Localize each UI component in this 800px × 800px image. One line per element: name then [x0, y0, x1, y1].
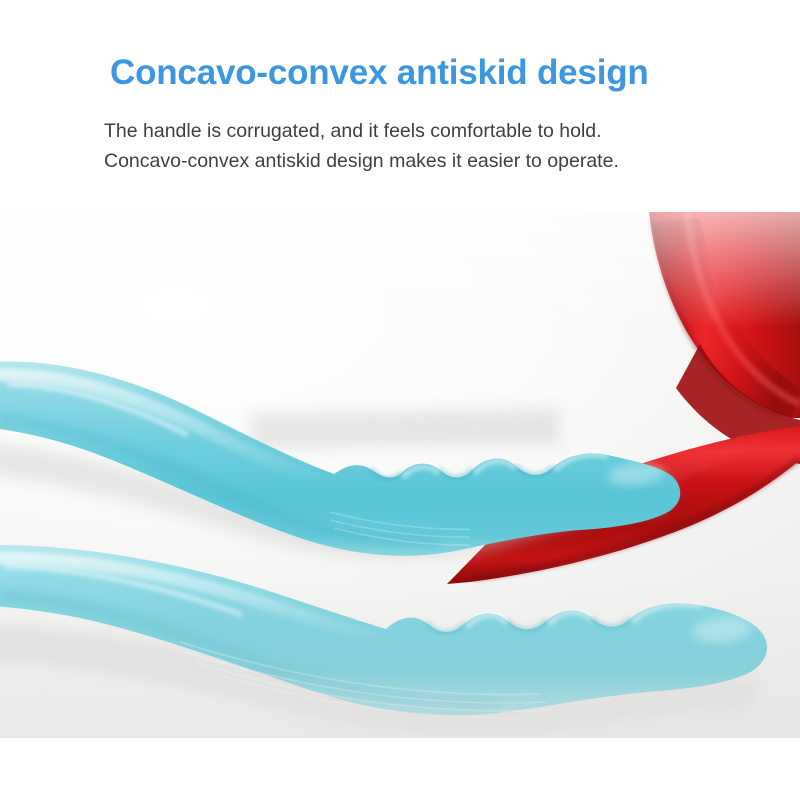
product-photo — [0, 212, 800, 738]
product-photo-illustration — [0, 212, 800, 738]
bottom-white-strip — [0, 738, 800, 800]
product-feature-image: Concavo-convex antiskid design The handl… — [0, 0, 800, 800]
upper-tong-handle — [0, 361, 680, 559]
description-line-2: Concavo-convex antiskid design makes it … — [104, 146, 754, 176]
description-line-1: The handle is corrugated, and it feels c… — [104, 116, 754, 146]
text-panel: Concavo-convex antiskid design The handl… — [0, 0, 800, 212]
description-text: The handle is corrugated, and it feels c… — [104, 116, 754, 176]
page-title: Concavo-convex antiskid design — [110, 53, 649, 93]
lower-tong-handle — [0, 545, 767, 736]
